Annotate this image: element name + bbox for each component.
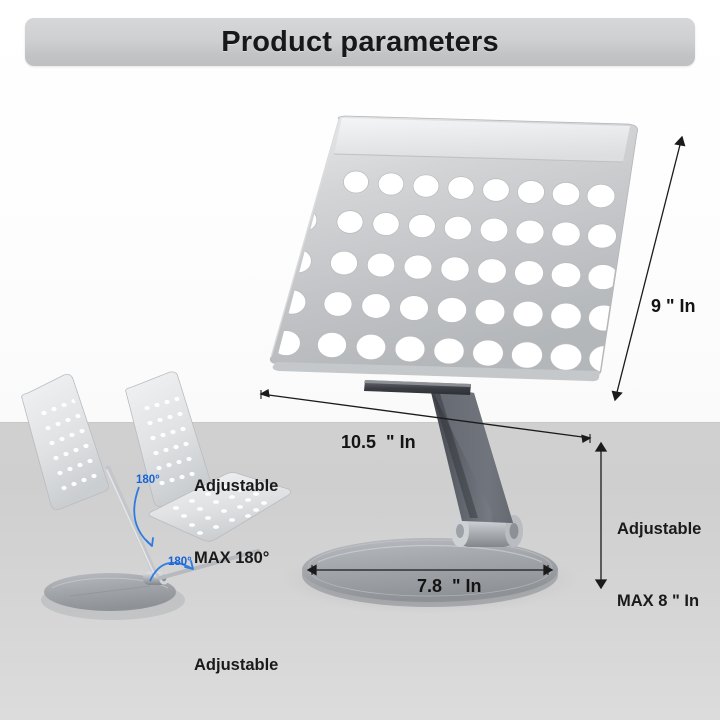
annotation-height-adjust-line1: Adjustable xyxy=(617,518,701,542)
background-lower-plane xyxy=(0,422,720,720)
infographic-canvas: Product parameters xyxy=(0,0,720,720)
annotation-rotate-adjust: Adjustable MAX 180° xyxy=(194,606,278,720)
annotation-rotate-adjust-line1: Adjustable xyxy=(194,654,278,678)
dimension-label-plate-height: 9 " In xyxy=(651,296,696,317)
angle-label-lower: 180° xyxy=(168,556,192,568)
annotation-tilt-adjust-line1: Adjustable xyxy=(194,475,278,499)
page-title: Product parameters xyxy=(25,18,695,66)
dimension-label-base-diameter: 7.8 " In xyxy=(417,576,482,597)
annotation-tilt-adjust: Adjustable MAX 180° xyxy=(194,427,278,618)
header-banner: Product parameters xyxy=(25,18,695,66)
annotation-height-adjust: Adjustable MAX 8 " In xyxy=(617,470,701,661)
annotation-height-adjust-line2: MAX 8 " In xyxy=(617,590,701,614)
dimension-label-plate-width: 10.5 " In xyxy=(341,432,416,453)
annotation-tilt-adjust-line2: MAX 180° xyxy=(194,547,278,571)
angle-label-upper: 180° xyxy=(136,474,160,486)
